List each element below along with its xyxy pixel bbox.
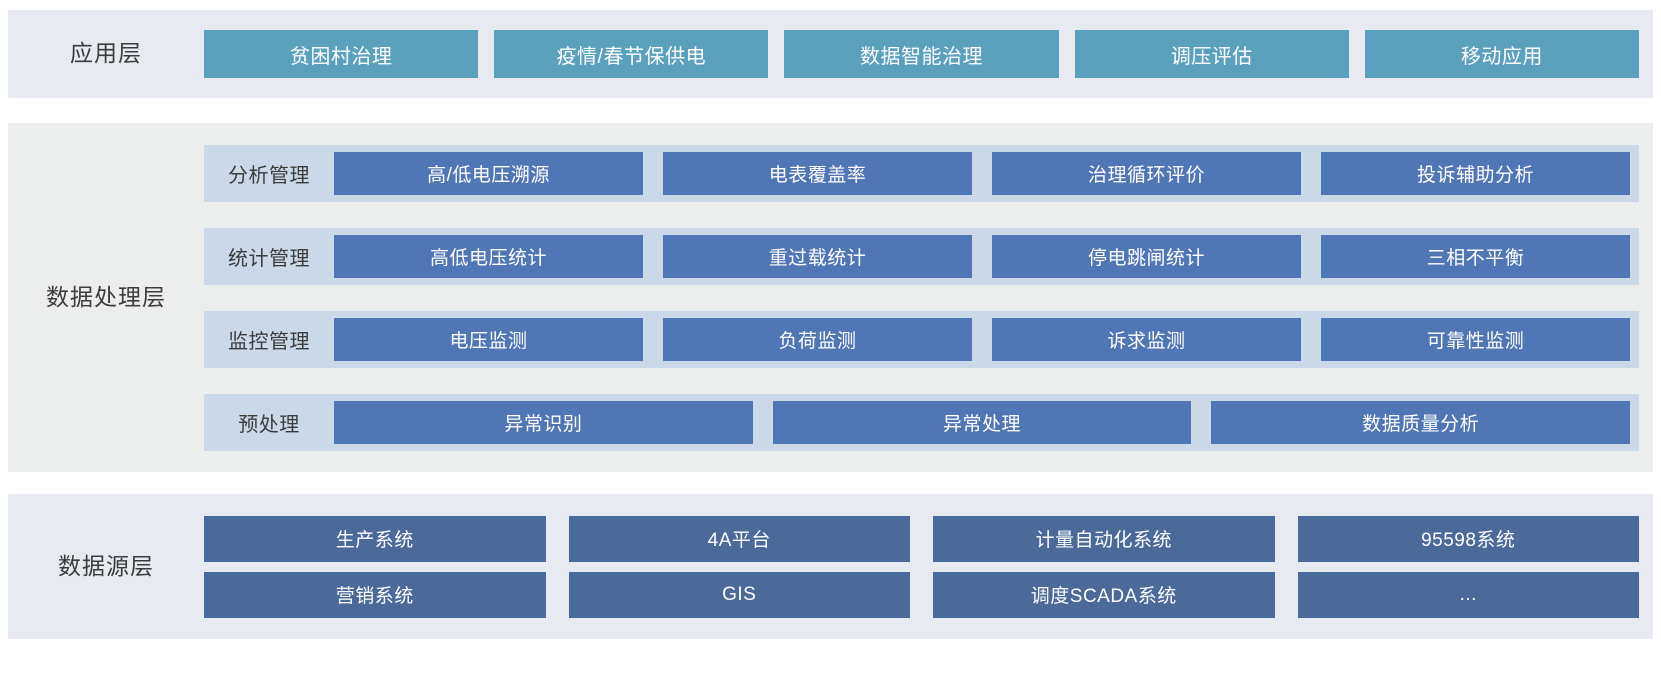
processing-box-outage-trip-statistics[interactable]: 停电跳闸统计 bbox=[992, 235, 1301, 278]
data-source-box-metering-automation-system[interactable]: 计量自动化系统 bbox=[933, 516, 1275, 562]
application-box-voltage-regulation-evaluation[interactable]: 调压评估 bbox=[1075, 30, 1349, 78]
processing-row-boxes-monitoring-management: 电压监测 负荷监测 诉求监测 可靠性监测 bbox=[334, 311, 1639, 368]
processing-box-load-monitoring[interactable]: 负荷监测 bbox=[663, 318, 972, 361]
data-processing-layer: 数据处理层 分析管理 高/低电压溯源 电表覆盖率 治理循环评价 投诉辅助分析 统… bbox=[8, 123, 1653, 472]
application-box-data-intelligent-governance[interactable]: 数据智能治理 bbox=[784, 30, 1058, 78]
processing-row-boxes-preprocessing: 异常识别 异常处理 数据质量分析 bbox=[334, 394, 1639, 451]
processing-row-boxes-analysis-management: 高/低电压溯源 电表覆盖率 治理循环评价 投诉辅助分析 bbox=[334, 145, 1639, 202]
processing-row-label-analysis-management: 分析管理 bbox=[204, 159, 334, 188]
data-processing-layer-body: 分析管理 高/低电压溯源 电表覆盖率 治理循环评价 投诉辅助分析 统计管理 高低… bbox=[204, 145, 1653, 451]
data-source-box-95598-system[interactable]: 95598系统 bbox=[1298, 516, 1640, 562]
processing-box-anomaly-handling[interactable]: 异常处理 bbox=[773, 401, 1192, 444]
data-source-box-more[interactable]: ... bbox=[1298, 572, 1640, 618]
processing-box-meter-coverage-rate[interactable]: 电表覆盖率 bbox=[663, 152, 972, 195]
data-source-box-4a-platform[interactable]: 4A平台 bbox=[569, 516, 911, 562]
data-source-layer-label: 数据源层 bbox=[8, 553, 204, 581]
data-source-row-top: 生产系统 4A平台 计量自动化系统 95598系统 bbox=[204, 516, 1639, 562]
data-source-box-gis[interactable]: GIS bbox=[569, 572, 911, 618]
application-layer-body: 贫困村治理 疫情/春节保供电 数据智能治理 调压评估 移动应用 bbox=[204, 30, 1653, 78]
processing-row-statistics-management: 统计管理 高低电压统计 重过载统计 停电跳闸统计 三相不平衡 bbox=[204, 228, 1639, 285]
processing-box-high-low-voltage-statistics[interactable]: 高低电压统计 bbox=[334, 235, 643, 278]
application-layer: 应用层 贫困村治理 疫情/春节保供电 数据智能治理 调压评估 移动应用 bbox=[8, 10, 1653, 98]
processing-row-preprocessing: 预处理 异常识别 异常处理 数据质量分析 bbox=[204, 394, 1639, 451]
data-source-box-marketing-system[interactable]: 营销系统 bbox=[204, 572, 546, 618]
processing-box-appeal-monitoring[interactable]: 诉求监测 bbox=[992, 318, 1301, 361]
processing-row-label-monitoring-management: 监控管理 bbox=[204, 325, 334, 354]
data-source-layer-body: 生产系统 4A平台 计量自动化系统 95598系统 营销系统 GIS 调度SCA… bbox=[204, 516, 1653, 618]
processing-row-monitoring-management: 监控管理 电压监测 负荷监测 诉求监测 可靠性监测 bbox=[204, 311, 1639, 368]
processing-box-anomaly-identification[interactable]: 异常识别 bbox=[334, 401, 753, 444]
processing-box-voltage-tracing[interactable]: 高/低电压溯源 bbox=[334, 152, 643, 195]
application-layer-label: 应用层 bbox=[8, 40, 204, 68]
processing-row-boxes-statistics-management: 高低电压统计 重过载统计 停电跳闸统计 三相不平衡 bbox=[334, 228, 1639, 285]
application-box-epidemic-spring-festival-power-supply[interactable]: 疫情/春节保供电 bbox=[494, 30, 768, 78]
processing-box-voltage-monitoring[interactable]: 电压监测 bbox=[334, 318, 643, 361]
processing-box-reliability-monitoring[interactable]: 可靠性监测 bbox=[1321, 318, 1630, 361]
processing-box-complaint-assisted-analysis[interactable]: 投诉辅助分析 bbox=[1321, 152, 1630, 195]
processing-box-governance-cycle-evaluation[interactable]: 治理循环评价 bbox=[992, 152, 1301, 195]
data-source-layer: 数据源层 生产系统 4A平台 计量自动化系统 95598系统 营销系统 GIS … bbox=[8, 494, 1653, 639]
processing-row-analysis-management: 分析管理 高/低电压溯源 电表覆盖率 治理循环评价 投诉辅助分析 bbox=[204, 145, 1639, 202]
application-box-mobile-application[interactable]: 移动应用 bbox=[1365, 30, 1639, 78]
processing-row-label-statistics-management: 统计管理 bbox=[204, 242, 334, 271]
data-source-row-bottom: 营销系统 GIS 调度SCADA系统 ... bbox=[204, 572, 1639, 618]
processing-box-data-quality-analysis[interactable]: 数据质量分析 bbox=[1211, 401, 1630, 444]
processing-box-three-phase-imbalance[interactable]: 三相不平衡 bbox=[1321, 235, 1630, 278]
architecture-diagram: 应用层 贫困村治理 疫情/春节保供电 数据智能治理 调压评估 移动应用 数据处理… bbox=[0, 0, 1661, 681]
processing-row-label-preprocessing: 预处理 bbox=[204, 408, 334, 437]
application-box-poverty-village-governance[interactable]: 贫困村治理 bbox=[204, 30, 478, 78]
processing-box-heavy-overload-statistics[interactable]: 重过载统计 bbox=[663, 235, 972, 278]
data-source-box-production-system[interactable]: 生产系统 bbox=[204, 516, 546, 562]
data-source-box-dispatch-scada-system[interactable]: 调度SCADA系统 bbox=[933, 572, 1275, 618]
data-processing-layer-label: 数据处理层 bbox=[8, 284, 204, 312]
